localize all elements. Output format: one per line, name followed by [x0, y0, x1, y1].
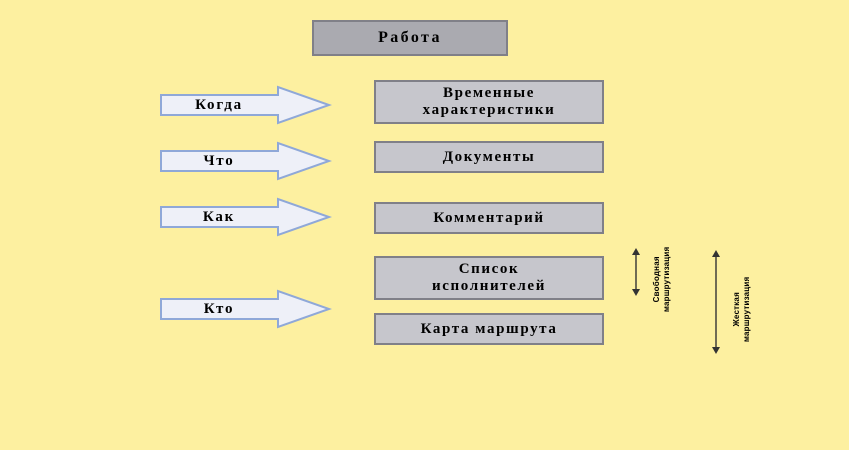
attribute-box-comment: Комментарий [374, 202, 604, 234]
question-arrow-what: Что [160, 142, 330, 180]
work-title-label: Работа [378, 29, 442, 47]
question-arrow-how: Как [160, 198, 330, 236]
routing-label-free-line-1: Свободная [652, 247, 662, 312]
question-arrow-who: Кто [160, 290, 330, 328]
measure-arrow-free-routing [628, 248, 644, 296]
routing-label-free-line-2: маршрутизация [662, 247, 672, 312]
attribute-line-1: Список [459, 261, 520, 278]
routing-label-strict: Жесткая маршрутизация [732, 277, 752, 342]
attribute-line-1: Временные [443, 85, 535, 102]
attribute-box-performer-list: Список исполнителей [374, 256, 604, 300]
attribute-box-documents: Документы [374, 141, 604, 173]
attribute-line-1: Комментарий [433, 210, 544, 227]
attribute-line-2: характеристики [423, 102, 556, 119]
attribute-line-1: Документы [443, 149, 536, 166]
measure-arrow-strict-routing [708, 250, 724, 354]
attribute-box-time-characteristics: Временные характеристики [374, 80, 604, 124]
attribute-line-1: Карта маршрута [421, 321, 558, 338]
routing-label-strict-line-1: Жесткая [732, 277, 742, 342]
routing-label-strict-line-2: маршрутизация [742, 277, 752, 342]
routing-label-free: Свободная маршрутизация [652, 247, 672, 312]
attribute-line-2: исполнителей [432, 278, 546, 295]
attribute-box-route-map: Карта маршрута [374, 313, 604, 345]
question-arrow-when: Когда [160, 86, 330, 124]
work-title-box: Работа [312, 20, 508, 56]
diagram-canvas: Работа Когда Что Как Кто Временные харак… [0, 0, 849, 450]
